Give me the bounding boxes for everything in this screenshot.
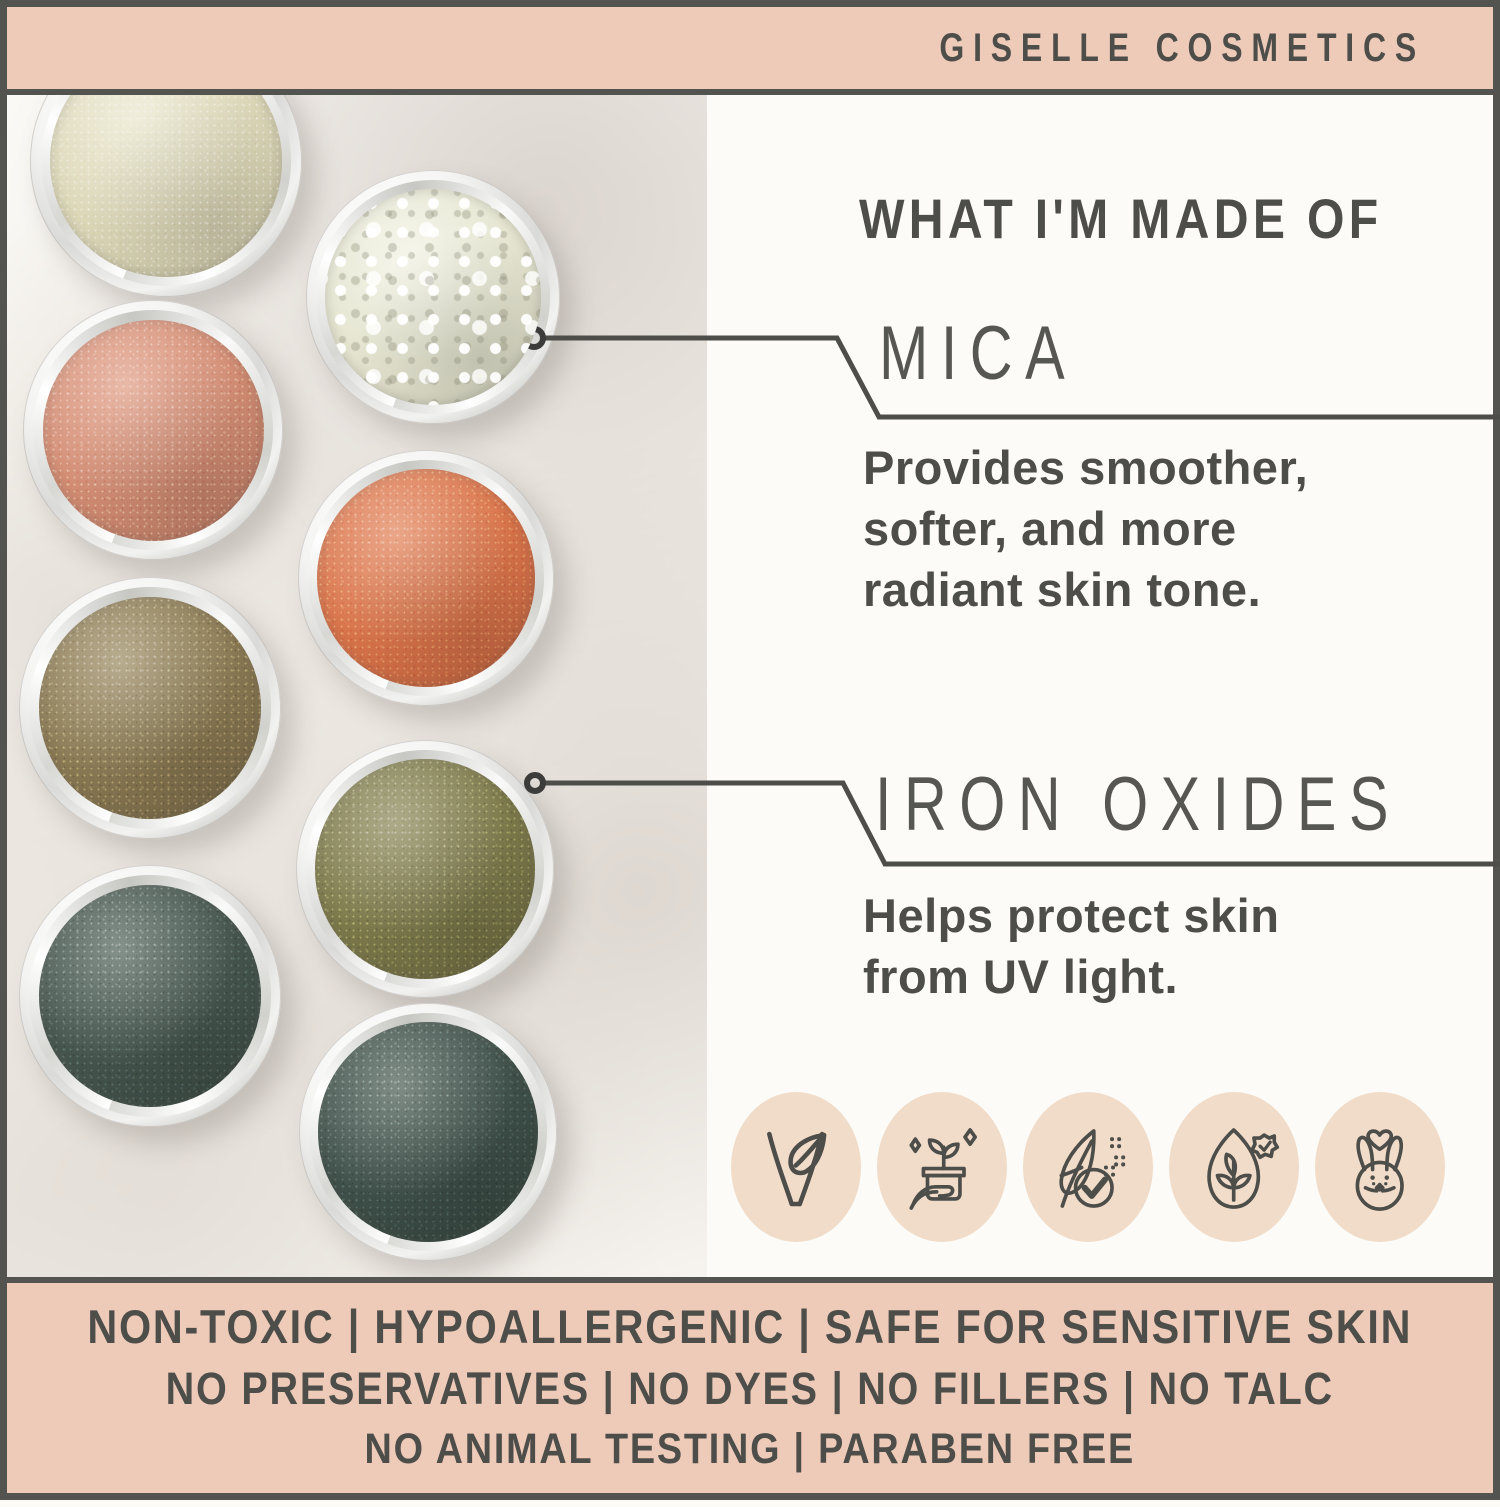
hand-plant-pot-icon (891, 1109, 992, 1226)
jar-deep-teal-green (299, 1003, 557, 1261)
desc-line: Provides smoother, (863, 437, 1463, 498)
product-photo-area (7, 95, 707, 1277)
brand-header-band: GISELLE COSMETICS (7, 7, 1493, 95)
jar-olive-khaki (296, 740, 554, 998)
desc-line: radiant skin tone. (863, 559, 1463, 620)
feather-check-icon (1037, 1109, 1138, 1226)
ingredient-description-mica: Provides smoother, softer, and more radi… (863, 437, 1463, 620)
certification-badge-row (731, 1092, 1445, 1242)
badge-natural-certified[interactable] (1169, 1092, 1299, 1242)
powder-swatch (318, 1022, 537, 1241)
powder-swatch (315, 759, 534, 978)
ingredient-title-mica: MICA (879, 310, 1077, 397)
powder-swatch (317, 469, 535, 687)
desc-line: from UV light. (863, 946, 1463, 1007)
badge-sustainably-sourced[interactable] (877, 1092, 1007, 1242)
powder-swatch (325, 189, 541, 405)
powder-swatch (50, 95, 281, 277)
desc-line: Helps protect skin (863, 885, 1463, 946)
desc-line: softer, and more (863, 498, 1463, 559)
jar-dark-slate-green (19, 865, 281, 1127)
jar-taupe-brown (19, 577, 281, 839)
brand-title: GISELLE COSMETICS (939, 26, 1425, 71)
powder-swatch (39, 885, 262, 1108)
section-kicker: WHAT I'M MADE OF (859, 186, 1382, 251)
powder-swatch (39, 597, 262, 820)
powder-swatch (43, 320, 264, 541)
ingredient-description-iron-oxides: Helps protect skin from UV light. (863, 885, 1463, 1007)
jar-white-mica (306, 170, 560, 424)
jar-burnt-orange (298, 450, 554, 706)
badge-lightweight[interactable] (1023, 1092, 1153, 1242)
ingredient-title-iron-oxides: IRON OXIDES (875, 761, 1401, 848)
badge-cruelty-free[interactable] (1315, 1092, 1445, 1242)
claim-line: NO ANIMAL TESTING | PARABEN FREE (365, 1425, 1135, 1474)
claim-line: NON-TOXIC | HYPOALLERGENIC | SAFE FOR SE… (88, 1299, 1413, 1354)
jar-salmon-pink (23, 300, 283, 560)
vegan-leaf-icon (745, 1109, 846, 1226)
bunny-heart-icon (1329, 1109, 1430, 1226)
product-claims-footer: NON-TOXIC | HYPOALLERGENIC | SAFE FOR SE… (7, 1277, 1493, 1493)
badge-vegan[interactable] (731, 1092, 861, 1242)
claim-line: NO PRESERVATIVES | NO DYES | NO FILLERS … (166, 1363, 1334, 1415)
leaf-seal-icon (1183, 1109, 1284, 1226)
product-infographic: GISELLE COSMETICS (0, 0, 1500, 1500)
